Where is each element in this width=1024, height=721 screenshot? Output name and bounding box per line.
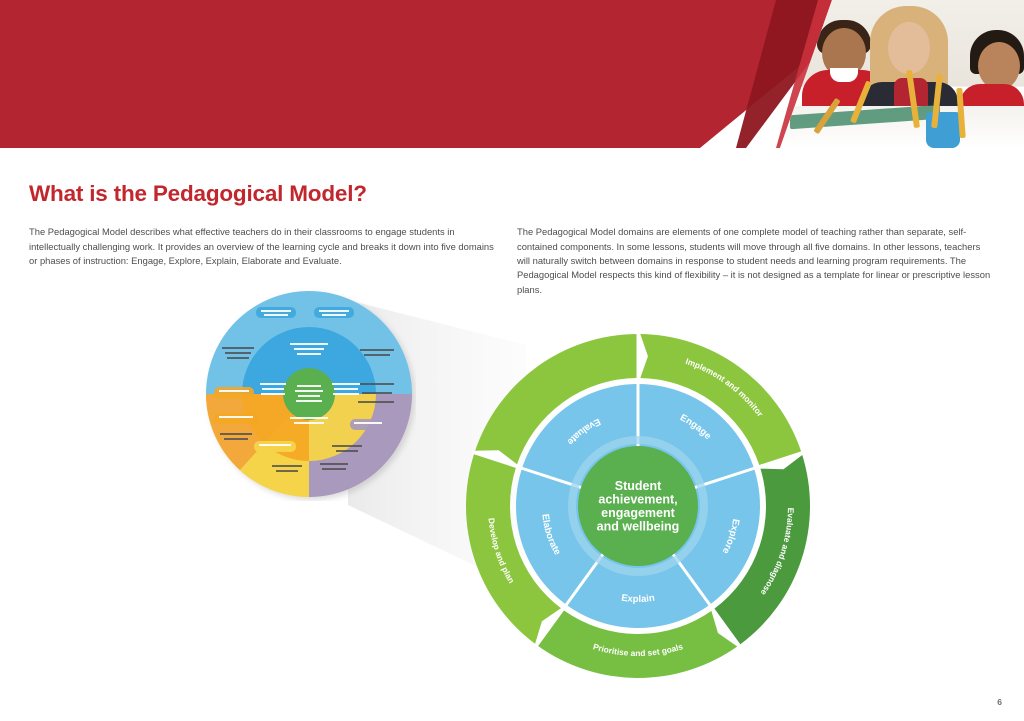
center-label-line: achievement, [598,493,677,507]
student-left-collar [830,68,858,82]
pencil-cup [926,112,960,148]
student-right-head [978,42,1020,90]
header-banner [0,0,1024,148]
intro-paragraph-right: The Pedagogical Model domains are elemen… [517,225,995,296]
center-label-line: engagement [601,506,675,520]
page-number: 6 [997,697,1002,707]
pedagogical-model-thumbnail [202,287,416,501]
page-title: What is the Pedagogical Model? [29,181,367,207]
intro-paragraph-left: The Pedagogical Model describes what eff… [29,225,503,268]
center-label-line: Student [615,479,662,493]
inner-ring-label: Explain [621,593,656,605]
teacher-head [888,22,930,74]
pedagogical-model-wheel: Implement and monitorEvaluate and diagno… [462,330,814,682]
center-label-line: and wellbeing [597,520,680,534]
